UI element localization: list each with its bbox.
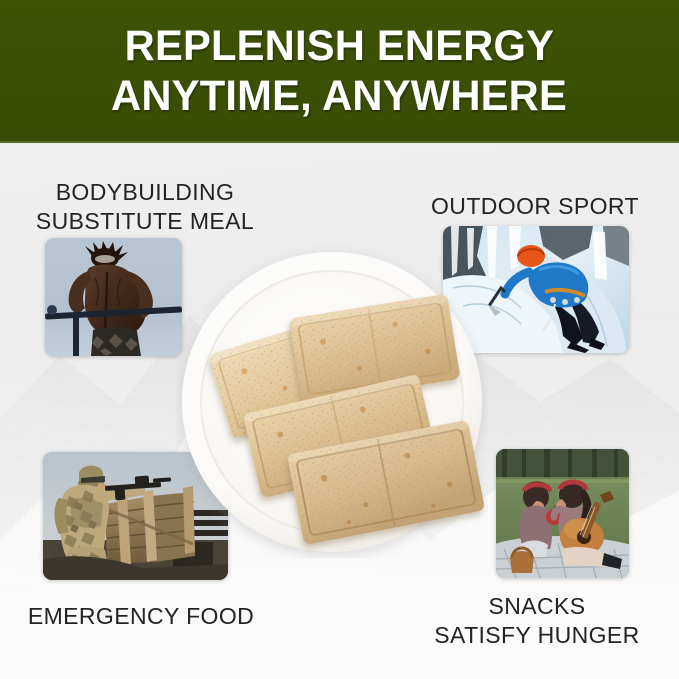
product-photo-plate <box>176 246 488 558</box>
caption-snacks: SNACKS SATISFY HUNGER <box>402 592 672 650</box>
caption-emergency-food: EMERGENCY FOOD <box>10 602 272 631</box>
photo-bodybuilding-pullup <box>45 238 182 356</box>
photo-snacks-picnic-girls <box>496 449 629 578</box>
product-marketing-image: REPLENISH ENERGY ANYTIME, ANYWHERE BODYB… <box>0 0 679 679</box>
banner-headline-line2: ANYTIME, ANYWHERE <box>112 71 568 121</box>
banner-headline-line1: REPLENISH ENERGY <box>125 21 555 71</box>
caption-outdoor-sport: OUTDOOR SPORT <box>400 192 670 221</box>
caption-bodybuilding: BODYBUILDING SUBSTITUTE MEAL <box>10 178 280 236</box>
header-banner: REPLENISH ENERGY ANYTIME, ANYWHERE <box>0 0 679 143</box>
